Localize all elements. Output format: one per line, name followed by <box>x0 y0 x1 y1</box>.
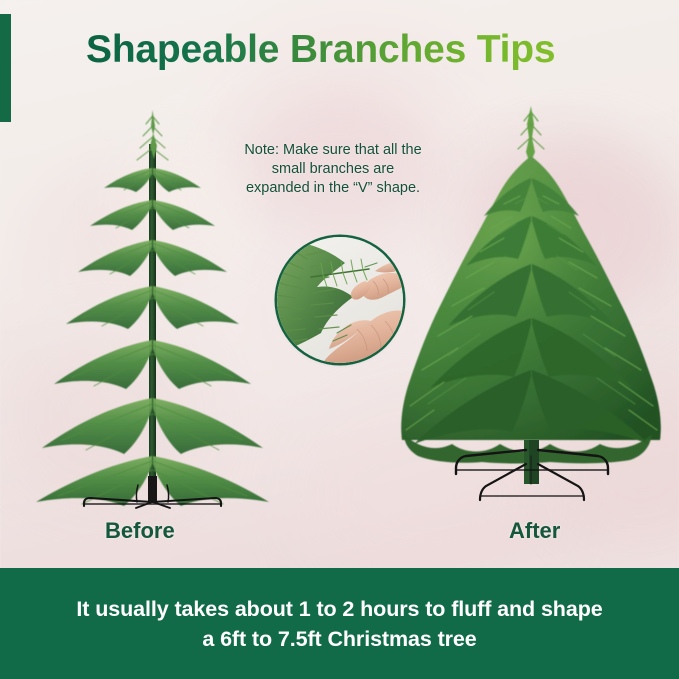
after-label: After <box>509 518 560 544</box>
branch-shaping-closeup <box>277 237 403 363</box>
banner-line: a 6ft to 7.5ft Christmas tree <box>20 624 660 654</box>
bottom-banner: It usually takes about 1 to 2 hours to f… <box>0 568 679 679</box>
before-label: Before <box>105 518 175 544</box>
page-title: Shapeable Branches Tips <box>86 28 555 72</box>
before-tree-image <box>24 104 284 514</box>
left-accent-bar <box>0 14 11 122</box>
banner-text-block: It usually takes about 1 to 2 hours to f… <box>20 594 660 654</box>
banner-line: It usually takes about 1 to 2 hours to f… <box>20 594 660 624</box>
infographic-canvas: Shapeable Branches Tips Note: Make sure … <box>0 0 679 679</box>
after-tree-image <box>400 104 666 514</box>
